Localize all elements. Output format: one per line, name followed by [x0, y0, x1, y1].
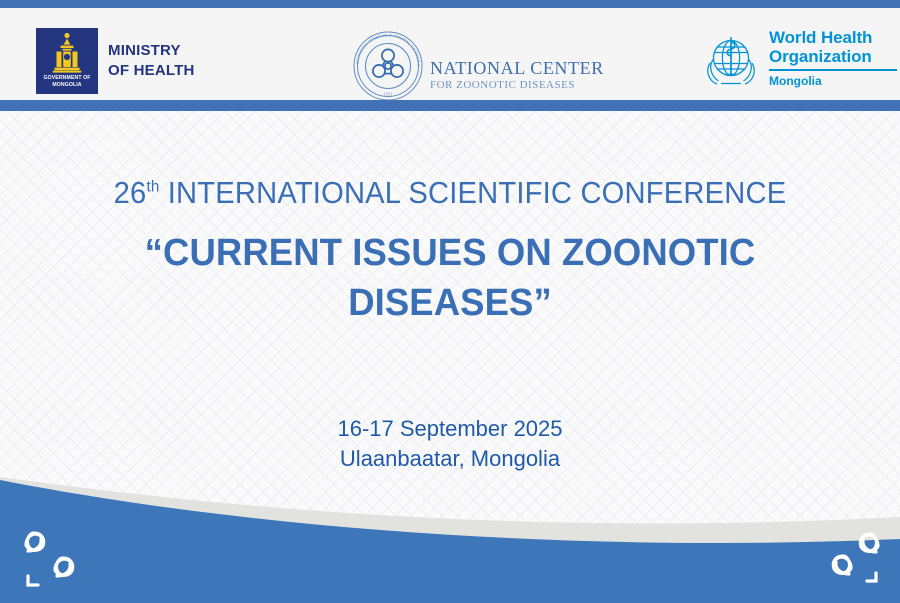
soyombo-symbol-icon — [36, 30, 98, 74]
national-center-logo: NATIONAL CENTER FOR ZOO ZOONOTIC DISEASE… — [352, 30, 604, 102]
logo-header-band: GOVERNMENT OF MONGOLIA MINISTRY OF HEALT… — [0, 8, 900, 100]
conference-theme: “CURRENT ISSUES ON ZOONOTIC DISEASES” — [76, 228, 825, 328]
seal-year: 1951 — [384, 92, 393, 97]
ministry-name-line2: OF HEALTH — [108, 61, 195, 81]
ministry-of-health-logo: GOVERNMENT OF MONGOLIA MINISTRY OF HEALT… — [36, 28, 195, 94]
ministry-name-line1: MINISTRY — [108, 41, 195, 61]
theme-line2: DISEASES” — [76, 278, 825, 328]
who-name-line2: Organization — [769, 47, 897, 66]
ministry-of-health-name: MINISTRY OF HEALTH — [108, 41, 195, 81]
national-center-line1: NATIONAL CENTER — [430, 59, 604, 78]
bottom-wave-decoration — [0, 443, 900, 603]
who-country-label: Mongolia — [769, 74, 897, 88]
emblem-caption: GOVERNMENT OF MONGOLIA — [36, 75, 98, 89]
conference-label: INTERNATIONAL SCIENTIFIC CONFERENCE — [168, 175, 787, 210]
conference-title-slide: GOVERNMENT OF MONGOLIA MINISTRY OF HEALT… — [0, 0, 900, 603]
who-emblem-icon — [700, 29, 762, 91]
national-center-line2: FOR ZOONOTIC DISEASES — [430, 78, 604, 92]
emblem-caption-line2: MONGOLIA — [36, 82, 98, 89]
conference-number: 26 — [114, 175, 147, 210]
top-accent-bar — [0, 0, 900, 8]
who-logo: World Health Organization Mongolia — [700, 26, 897, 91]
who-name-line1: World Health — [769, 28, 897, 47]
mongolian-knot-ornament-left — [14, 521, 100, 593]
biohazard-seal-icon: NATIONAL CENTER FOR ZOO ZOONOTIC DISEASE… — [352, 30, 424, 102]
event-date: 16-17 September 2025 — [0, 414, 900, 444]
mongolia-state-emblem: GOVERNMENT OF MONGOLIA — [36, 28, 98, 94]
emblem-caption-line1: GOVERNMENT OF — [36, 75, 98, 82]
who-divider — [769, 69, 897, 71]
header-separator-bar — [0, 100, 900, 111]
conference-ordinal: th — [146, 178, 159, 196]
who-name-block: World Health Organization Mongolia — [769, 26, 897, 88]
conference-heading: 26th INTERNATIONAL SCIENTIFIC CONFERENCE — [27, 175, 873, 211]
theme-line1: “CURRENT ISSUES ON ZOONOTIC — [76, 228, 825, 278]
mongolian-knot-ornament-right — [812, 526, 886, 588]
national-center-name: NATIONAL CENTER FOR ZOONOTIC DISEASES — [430, 41, 604, 92]
